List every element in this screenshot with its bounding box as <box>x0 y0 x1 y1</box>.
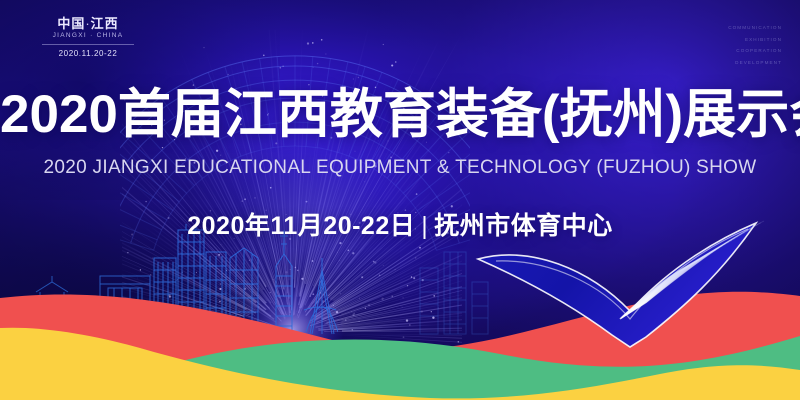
logo-cn-province: 江西 <box>91 16 119 31</box>
keyword-item: COOPERATION <box>728 49 782 54</box>
logo-divider-rule <box>42 44 134 45</box>
corner-logo: 中国·江西 JIANGXI · CHINA 2020.11.20-22 <box>28 17 148 58</box>
event-meta: 2020年11月20-22日|抚州市体育中心 <box>0 206 800 242</box>
logo-date-text: 2020.11.20-22 <box>28 50 148 58</box>
keyword-item: COMMUNICATION <box>728 26 782 31</box>
event-subtitle: 2020 JIANGXI EDUCATIONAL EQUIPMENT & TEC… <box>0 157 800 179</box>
event-banner: 中国·江西 JIANGXI · CHINA 2020.11.20-22 COMM… <box>0 0 800 400</box>
keyword-list: COMMUNICATION EXHIBITION COOPERATION DEV… <box>728 26 782 72</box>
logo-chinese-text: 中国·江西 <box>28 17 148 30</box>
logo-english-text: JIANGXI · CHINA <box>28 33 148 40</box>
event-venue: 抚州市体育中心 <box>434 212 613 240</box>
event-headline: 2020首届江西教育装备(抚州)展示会 <box>0 88 800 141</box>
meta-divider: | <box>415 212 434 240</box>
keyword-item: DEVELOPMENT <box>728 61 782 66</box>
event-date: 2020年11月20-22日 <box>187 212 415 240</box>
keyword-item: EXHIBITION <box>728 38 782 43</box>
logo-separator: · <box>85 16 90 31</box>
logo-cn-country: 中国 <box>57 16 85 31</box>
